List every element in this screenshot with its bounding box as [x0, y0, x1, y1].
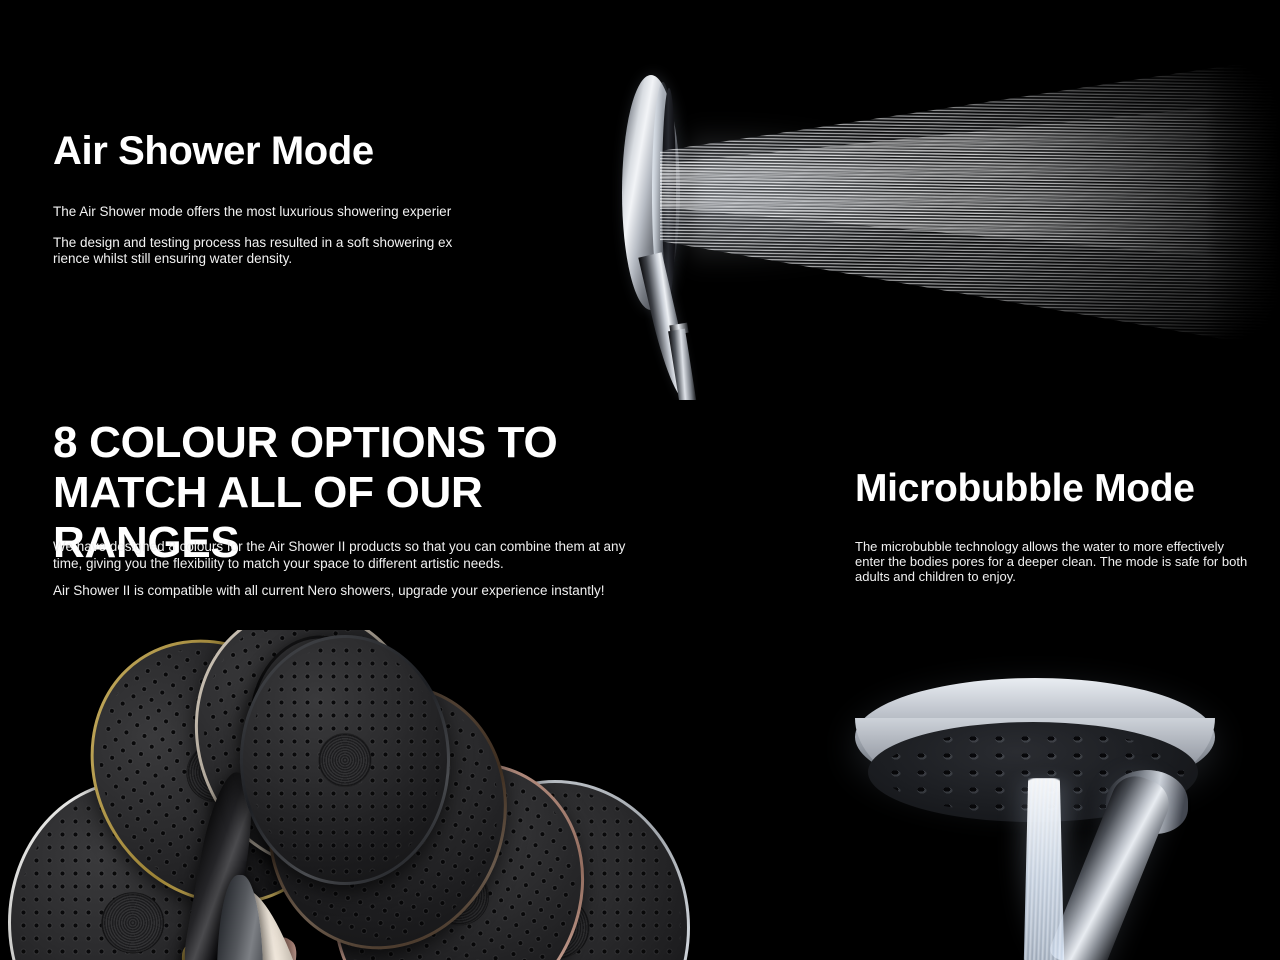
microbubble-water-jet: [1022, 778, 1066, 960]
colour-fan-photo: [0, 630, 790, 960]
shower-head-face-gunmetal-graphite: [243, 638, 447, 882]
colour-options-paragraph-1: We have designed 8 colours for the Air S…: [53, 538, 653, 572]
shower-head-ring-gunmetal-graphite: [240, 635, 450, 885]
air-shower-paragraph-1: The Air Shower mode offers the most luxu…: [53, 203, 469, 221]
air-shower-heading-block: Air Shower Mode: [53, 130, 469, 172]
spray-glow: [690, 122, 950, 272]
microbubble-heading: Microbubble Mode: [855, 466, 1255, 512]
microbubble-heading-block: Microbubble Mode: [855, 466, 1255, 512]
air-shower-paragraph-2: The design and testing process has resul…: [53, 235, 469, 269]
product-page: Air Shower Mode The Air Shower mode offe…: [0, 0, 1280, 960]
section-air-shower-mode: Air Shower Mode The Air Shower mode offe…: [0, 0, 1280, 400]
shower-center-emblem-icon: [318, 733, 371, 787]
section-colours-and-microbubble: 8 COLOUR OPTIONS TO MATCH ALL OF OUR RAN…: [0, 400, 1280, 960]
microbubble-paragraph: The microbubble technology allows the wa…: [855, 539, 1255, 584]
air-shower-heading: Air Shower Mode: [53, 130, 469, 172]
microbubble-photo: [820, 630, 1280, 960]
colour-options-paragraph-2: Air Shower II is compatible with all cur…: [53, 582, 653, 599]
air-shower-photo: [600, 0, 1280, 400]
water-spray: [660, 52, 1280, 352]
